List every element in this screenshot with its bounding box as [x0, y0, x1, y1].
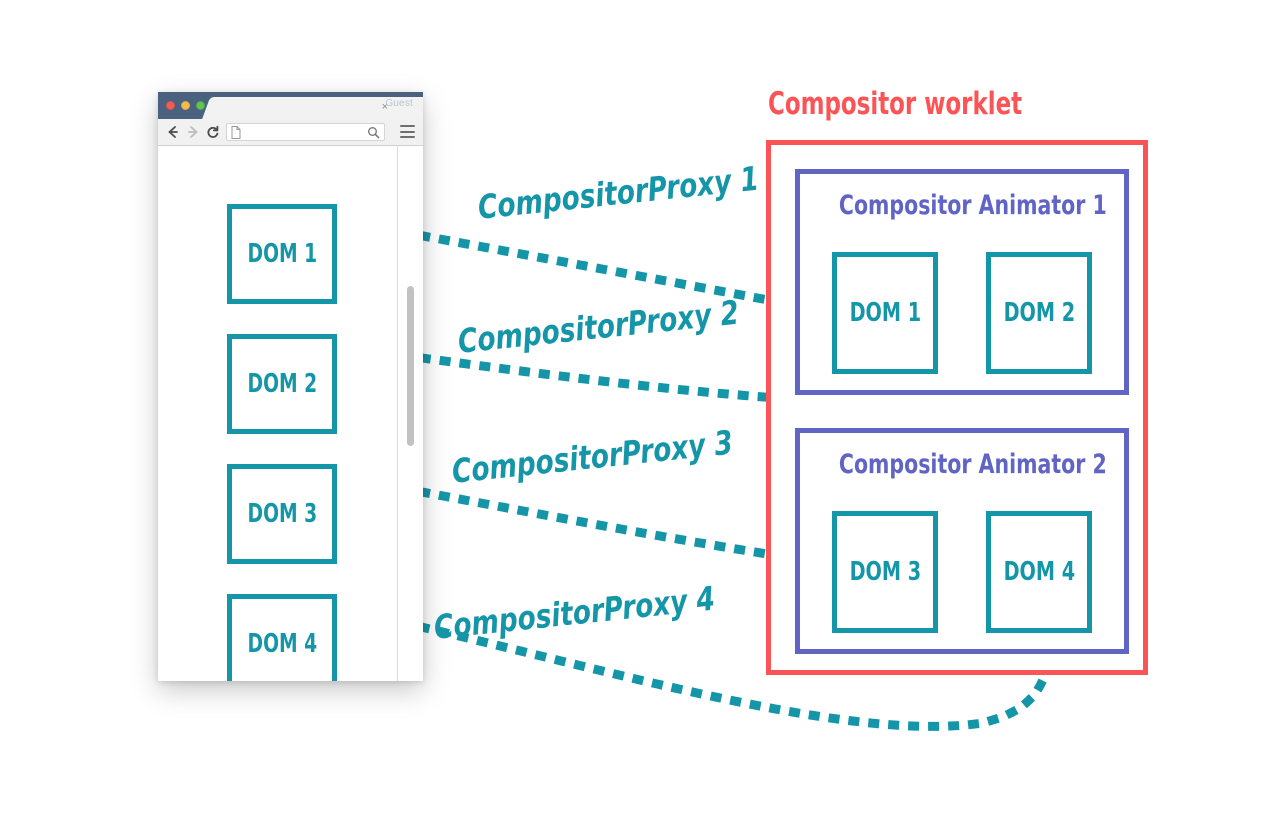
- page-dom-box-3: DOM 3: [227, 464, 337, 564]
- compositor-proxy-2-label: CompositorProxy 2: [456, 293, 741, 361]
- animator-dom-row: DOM 3 DOM 4: [800, 511, 1124, 633]
- compositor-proxy-1-label: CompositorProxy 1: [476, 159, 761, 227]
- worklet-dom-label: DOM 1: [849, 298, 921, 328]
- browser-page-content: DOM 1 DOM 2 DOM 3 DOM 4: [158, 146, 423, 681]
- page-dom-box-4: DOM 4: [227, 594, 337, 681]
- worklet-dom-box-3: DOM 3: [832, 511, 938, 633]
- page-dom-box-2: DOM 2: [227, 334, 337, 434]
- page-dom-label: DOM 1: [247, 239, 317, 269]
- url-input[interactable]: [226, 123, 385, 141]
- search-icon[interactable]: [367, 126, 380, 139]
- close-window-icon[interactable]: [166, 101, 175, 110]
- worklet-dom-label: DOM 4: [1003, 557, 1075, 587]
- animator-dom-row: DOM 1 DOM 2: [800, 252, 1124, 374]
- compositor-animator-2: Compositor Animator 2 DOM 3 DOM 4: [795, 428, 1129, 654]
- worklet-dom-label: DOM 2: [1003, 298, 1075, 328]
- window-controls[interactable]: [166, 101, 205, 110]
- reload-icon[interactable]: [204, 123, 222, 141]
- hamburger-menu-icon[interactable]: [400, 125, 415, 138]
- compositor-animator-title: Compositor Animator 2: [839, 449, 1085, 480]
- page-dom-label: DOM 3: [247, 499, 317, 529]
- minimize-window-icon[interactable]: [181, 101, 190, 110]
- compositor-proxy-4-label: CompositorProxy 4: [432, 579, 717, 647]
- worklet-dom-box-2: DOM 2: [986, 252, 1092, 374]
- page-document-icon: [231, 126, 241, 139]
- forward-arrow-icon[interactable]: [184, 123, 202, 141]
- worklet-dom-box-4: DOM 4: [986, 511, 1092, 633]
- guest-profile-label[interactable]: Guest: [385, 98, 413, 109]
- compositor-worklet-box: Compositor Animator 1 DOM 1 DOM 2 Compos…: [766, 140, 1148, 675]
- maximize-window-icon[interactable]: [196, 101, 205, 110]
- page-dom-box-1: DOM 1: [227, 204, 337, 304]
- page-dom-label: DOM 4: [247, 629, 317, 659]
- scrollbar-thumb[interactable]: [407, 286, 414, 446]
- browser-titlebar: × Guest: [158, 92, 423, 119]
- compositor-animator-1: Compositor Animator 1 DOM 1 DOM 2: [795, 169, 1129, 395]
- compositor-worklet-title: Compositor worklet: [768, 86, 1022, 122]
- worklet-dom-box-1: DOM 1: [832, 252, 938, 374]
- back-arrow-icon[interactable]: [164, 123, 182, 141]
- compositor-animator-title: Compositor Animator 1: [839, 190, 1085, 221]
- worklet-dom-label: DOM 3: [849, 557, 921, 587]
- vertical-scrollbar[interactable]: [398, 146, 423, 681]
- compositor-proxy-3-label: CompositorProxy 3: [450, 423, 735, 491]
- browser-window: × Guest: [158, 92, 423, 680]
- diagram-canvas: × Guest: [0, 0, 1280, 815]
- page-dom-label: DOM 2: [247, 369, 317, 399]
- browser-toolbar: [158, 119, 423, 146]
